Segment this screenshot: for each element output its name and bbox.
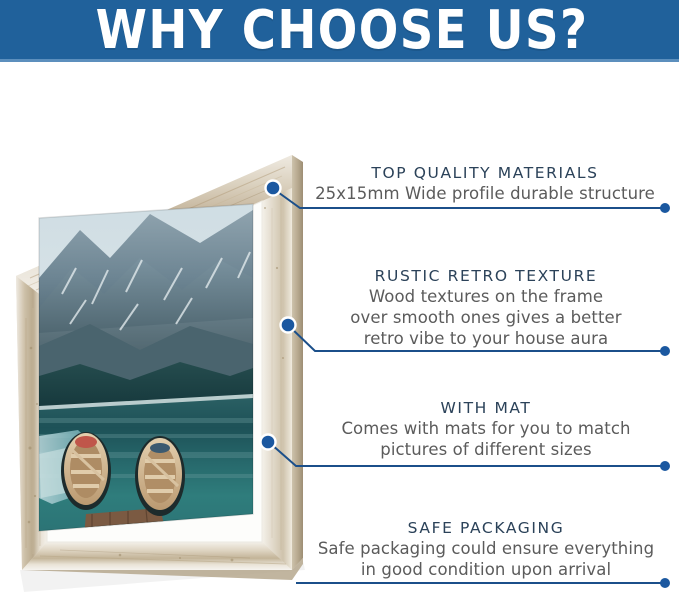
callout-title-3: WITH MAT	[300, 398, 672, 418]
callout-title-2: RUSTIC RETRO TEXTURE	[300, 266, 672, 286]
page-title: WHY CHOOSE US?	[96, 3, 589, 57]
callout-body-3-line-2: pictures of different sizes	[300, 439, 672, 460]
callout-body-3-line-1: Comes with mats for you to match	[300, 418, 672, 439]
callout-rustic-retro-texture: RUSTIC RETRO TEXTURE Wood textures on th…	[300, 266, 672, 349]
banner-underline	[0, 59, 679, 62]
callout-body-2-line-3: retro vibe to your house aura	[300, 328, 672, 349]
rowboat-left	[61, 432, 111, 510]
end-dot-3	[660, 461, 670, 471]
why-choose-us-infographic: WHY CHOOSE US?	[0, 0, 679, 602]
product-image	[0, 118, 320, 602]
callout-body-4-line-1: Safe packaging could ensure everything	[296, 538, 676, 559]
end-dot-1	[660, 203, 670, 213]
frame-rail-right	[262, 188, 292, 570]
picture-frame-illustration	[0, 118, 320, 602]
frame-depth-edge	[292, 155, 303, 570]
rowboat-right	[135, 436, 185, 516]
callout-with-mat: WITH MAT Comes with mats for you to matc…	[300, 398, 672, 460]
callout-body-1-line-1: 25x15mm Wide profile durable structure	[295, 183, 675, 204]
callout-body-2-line-2: over smooth ones gives a better	[300, 307, 672, 328]
callout-top-quality-materials: TOP QUALITY MATERIALS 25x15mm Wide profi…	[295, 163, 675, 204]
callout-body-2-line-1: Wood textures on the frame	[300, 286, 672, 307]
callout-safe-packaging: SAFE PACKAGING Safe packaging could ensu…	[296, 518, 676, 580]
callout-body-4-line-2: in good condition upon arrival	[296, 559, 676, 580]
callout-title-4: SAFE PACKAGING	[296, 518, 676, 538]
frame-rail-bottom	[22, 542, 292, 570]
callout-title-1: TOP QUALITY MATERIALS	[295, 163, 675, 183]
header-banner: WHY CHOOSE US?	[0, 0, 679, 59]
photo-artwork	[30, 198, 270, 538]
